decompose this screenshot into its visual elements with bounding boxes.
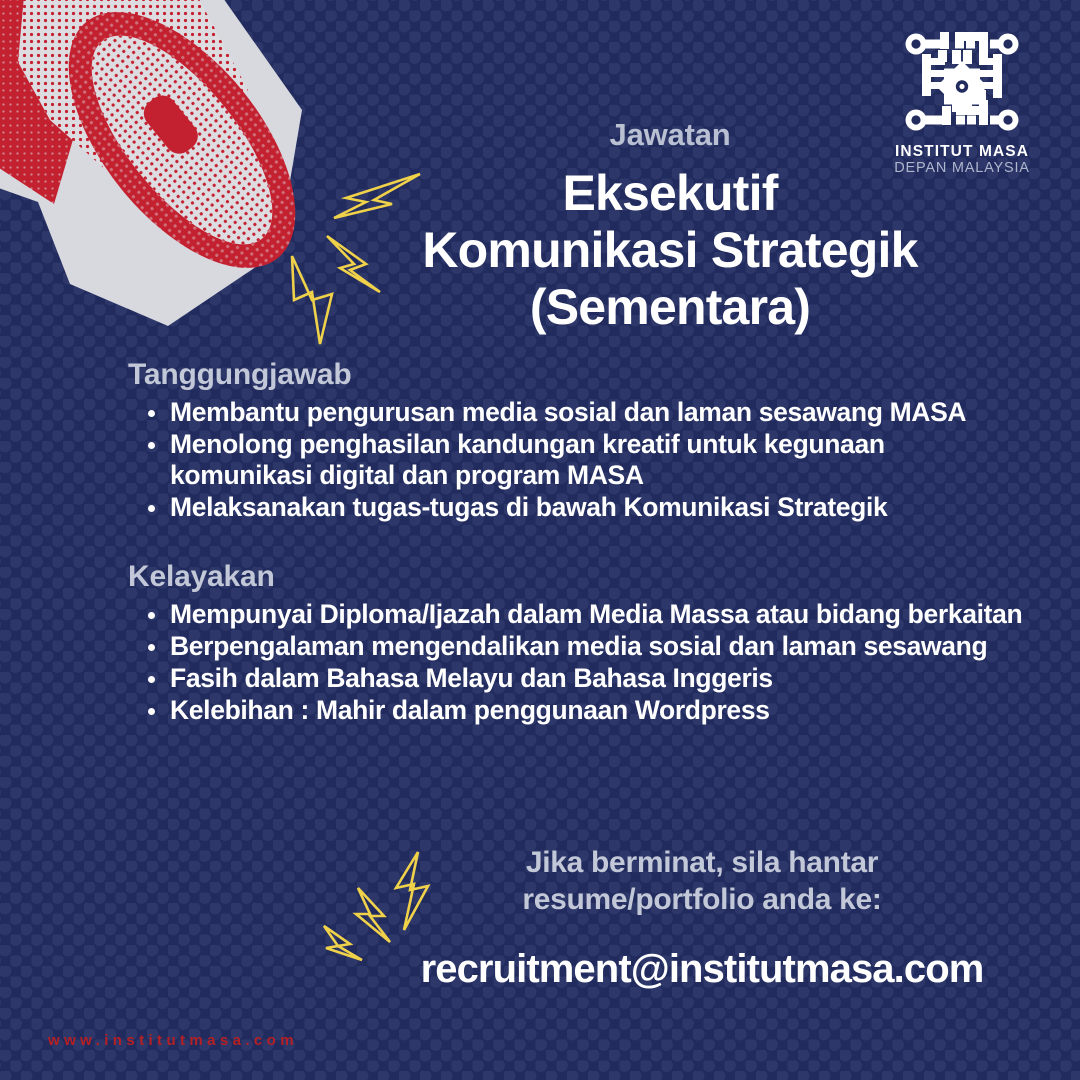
list-item: Membantu pengurusan media sosial dan lam… — [128, 397, 1028, 428]
list-item: Fasih dalam Bahasa Melayu dan Bahasa Ing… — [128, 663, 1028, 694]
list-item: Kelebihan : Mahir dalam penggunaan Wordp… — [128, 695, 1028, 726]
page-title: Eksekutif Komunikasi Strategik (Sementar… — [330, 165, 1010, 336]
megaphone-outline — [0, 0, 302, 326]
list-item: Menolong penghasilan kandungan kreatif u… — [128, 429, 1028, 491]
megaphone-mouth — [26, 0, 339, 307]
lightning-bolt-icon — [356, 888, 390, 942]
cta-line: Jika berminat, sila hantar — [392, 845, 1012, 882]
qualifications-list: Mempunyai Diploma/Ijazah dalam Media Mas… — [128, 599, 1028, 726]
responsibilities-list: Membantu pengurusan media sosial dan lam… — [128, 397, 1028, 523]
list-item: Berpengalaman mengendalikan media sosial… — [128, 631, 1028, 662]
call-to-action: Jika berminat, sila hantar resume/portfo… — [392, 845, 1012, 992]
qualifications-section: Kelayakan Mempunyai Diploma/Ijazah dalam… — [128, 560, 1028, 727]
headline-area: Jawatan Eksekutif Komunikasi Strategik (… — [330, 118, 1010, 336]
recruitment-poster: INSTITUT MASA DEPAN MALAYSIA Jawatan Eks… — [0, 0, 1080, 1080]
cta-line: resume/portfolio anda ke: — [392, 882, 1012, 919]
contact-email[interactable]: recruitment@institutmasa.com — [392, 947, 1012, 992]
cta-instruction: Jika berminat, sila hantar resume/portfo… — [392, 845, 1012, 918]
megaphone-handle — [0, 0, 126, 204]
eyebrow-label: Jawatan — [330, 118, 1010, 152]
lightning-bolt-icon — [292, 256, 332, 344]
list-item: Melaksanakan tugas-tugas di bawah Komuni… — [128, 492, 1028, 523]
job-title-line: Komunikasi Strategik — [330, 222, 1010, 279]
section-heading: Tanggungjawab — [128, 358, 1028, 391]
job-title-line: (Sementara) — [330, 279, 1010, 336]
section-heading: Kelayakan — [128, 560, 1028, 593]
footer-website-url[interactable]: www.institutmasa.com — [48, 1032, 298, 1049]
megaphone-cone — [18, 0, 248, 188]
lightning-bolt-icon — [324, 926, 362, 960]
list-item: Mempunyai Diploma/Ijazah dalam Media Mas… — [128, 599, 1028, 630]
responsibilities-section: Tanggungjawab Membantu pengurusan media … — [128, 358, 1028, 524]
job-title-line: Eksekutif — [330, 165, 1010, 222]
octagram-star-icon — [937, 61, 988, 112]
